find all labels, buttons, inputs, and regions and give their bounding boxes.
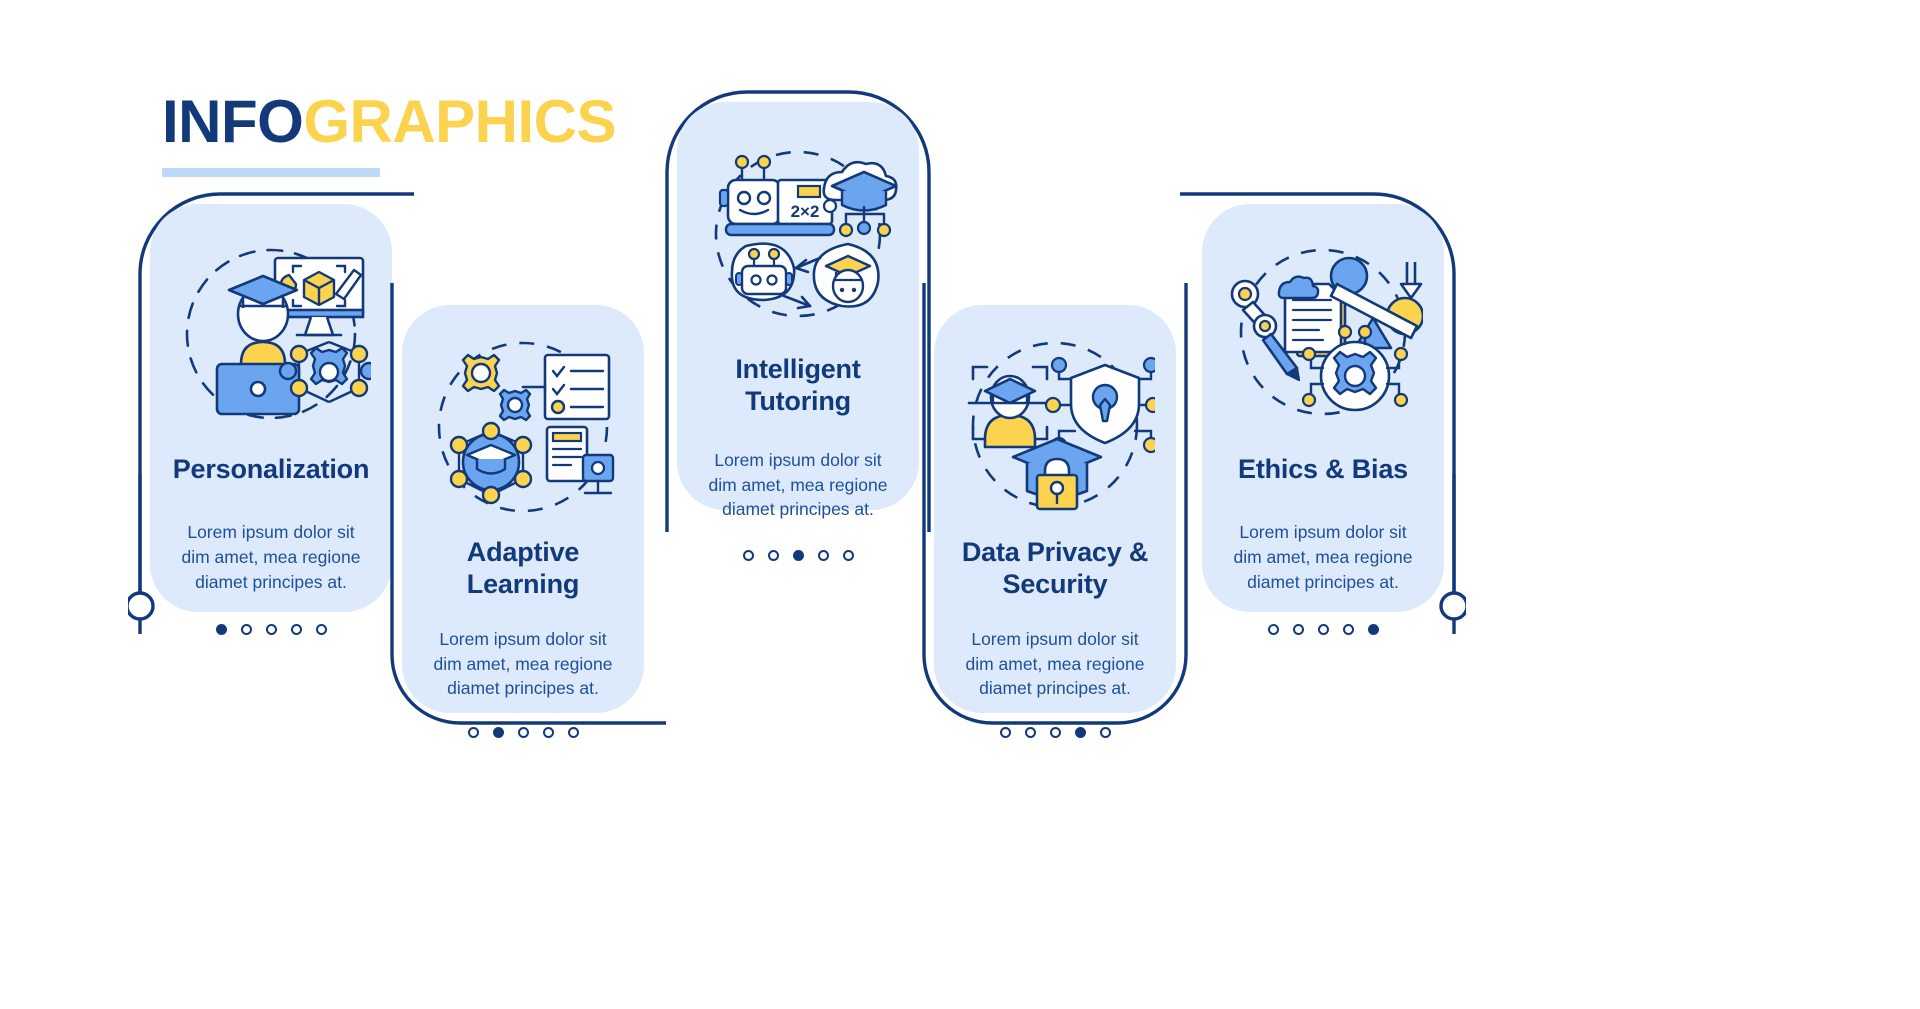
pagination-dot[interactable] <box>1050 727 1061 738</box>
pagination-dot[interactable] <box>543 727 554 738</box>
card-adaptive-learning[interactable]: Adaptive Learning Lorem ipsum dolor sit … <box>380 283 666 735</box>
pagination-dot[interactable] <box>843 550 854 561</box>
page-header: INFOGRAPHICS <box>162 92 616 177</box>
pagination-dot[interactable] <box>793 550 804 561</box>
pagination-dot[interactable] <box>468 727 479 738</box>
card-title: Ethics & Bias <box>1228 454 1418 486</box>
pagination-dot[interactable] <box>216 624 227 635</box>
pagination-dot[interactable] <box>1293 624 1304 635</box>
pagination-dot[interactable] <box>266 624 277 635</box>
card-body-panel: Adaptive Learning Lorem ipsum dolor sit … <box>402 305 644 713</box>
pagination-dot[interactable] <box>568 727 579 738</box>
pagination-dots[interactable] <box>468 727 579 738</box>
card-title: Personalization <box>163 454 380 486</box>
infographic-canvas: INFOGRAPHICS <box>0 0 1920 1009</box>
pagination-dot[interactable] <box>493 727 504 738</box>
connector-endpoint-left <box>128 593 153 619</box>
card-description: Lorem ipsum dolor sit dim amet, mea regi… <box>934 627 1176 702</box>
connector-endpoint-right <box>1441 593 1466 619</box>
pagination-dot[interactable] <box>818 550 829 561</box>
page-title-part-two: GRAPHICS <box>303 88 616 155</box>
pagination-dot[interactable] <box>1268 624 1279 635</box>
card-body-panel: 2×2 <box>677 102 919 510</box>
pagination-dot[interactable] <box>1025 727 1036 738</box>
pagination-dot[interactable] <box>518 727 529 738</box>
data-privacy-security-icon <box>934 335 1176 517</box>
pagination-dot[interactable] <box>316 624 327 635</box>
pagination-dot[interactable] <box>291 624 302 635</box>
card-title: Intelligent Tutoring <box>677 354 919 418</box>
page-title-part-one: INFO <box>162 88 303 155</box>
card-body-panel: Data Privacy & Security Lorem ipsum dolo… <box>934 305 1176 713</box>
card-personalization[interactable]: Personalization Lorem ipsum dolor sit di… <box>128 182 414 634</box>
ethics-bias-icon <box>1202 242 1444 424</box>
card-body-panel: Ethics & Bias Lorem ipsum dolor sit dim … <box>1202 204 1444 612</box>
pagination-dots[interactable] <box>216 624 327 635</box>
pagination-dot[interactable] <box>241 624 252 635</box>
title-underline <box>162 168 380 177</box>
adaptive-learning-icon <box>402 335 644 517</box>
personalization-icon <box>150 242 392 424</box>
pagination-dot[interactable] <box>1318 624 1329 635</box>
pagination-dots[interactable] <box>743 550 854 561</box>
intelligent-tutoring-icon: 2×2 <box>677 144 919 326</box>
card-body-panel: Personalization Lorem ipsum dolor sit di… <box>150 204 392 612</box>
robot-screen-label: 2×2 <box>791 202 820 221</box>
page-title: INFOGRAPHICS <box>162 92 616 152</box>
pagination-dots[interactable] <box>1000 727 1111 738</box>
card-ethics-bias[interactable]: Ethics & Bias Lorem ipsum dolor sit dim … <box>1180 182 1466 634</box>
pagination-dot[interactable] <box>1343 624 1354 635</box>
card-data-privacy-security[interactable]: Data Privacy & Security Lorem ipsum dolo… <box>912 283 1198 735</box>
pagination-dot[interactable] <box>743 550 754 561</box>
pagination-dot[interactable] <box>1100 727 1111 738</box>
card-title: Data Privacy & Security <box>934 537 1176 601</box>
card-title: Adaptive Learning <box>402 537 644 601</box>
card-description: Lorem ipsum dolor sit dim amet, mea regi… <box>402 627 644 702</box>
pagination-dots[interactable] <box>1268 624 1379 635</box>
pagination-dot[interactable] <box>1368 624 1379 635</box>
card-intelligent-tutoring[interactable]: 2×2 <box>655 80 941 532</box>
pagination-dot[interactable] <box>768 550 779 561</box>
card-description: Lorem ipsum dolor sit dim amet, mea regi… <box>1202 520 1444 595</box>
card-description: Lorem ipsum dolor sit dim amet, mea regi… <box>150 520 392 595</box>
pagination-dot[interactable] <box>1075 727 1086 738</box>
card-description: Lorem ipsum dolor sit dim amet, mea regi… <box>677 448 919 523</box>
pagination-dot[interactable] <box>1000 727 1011 738</box>
